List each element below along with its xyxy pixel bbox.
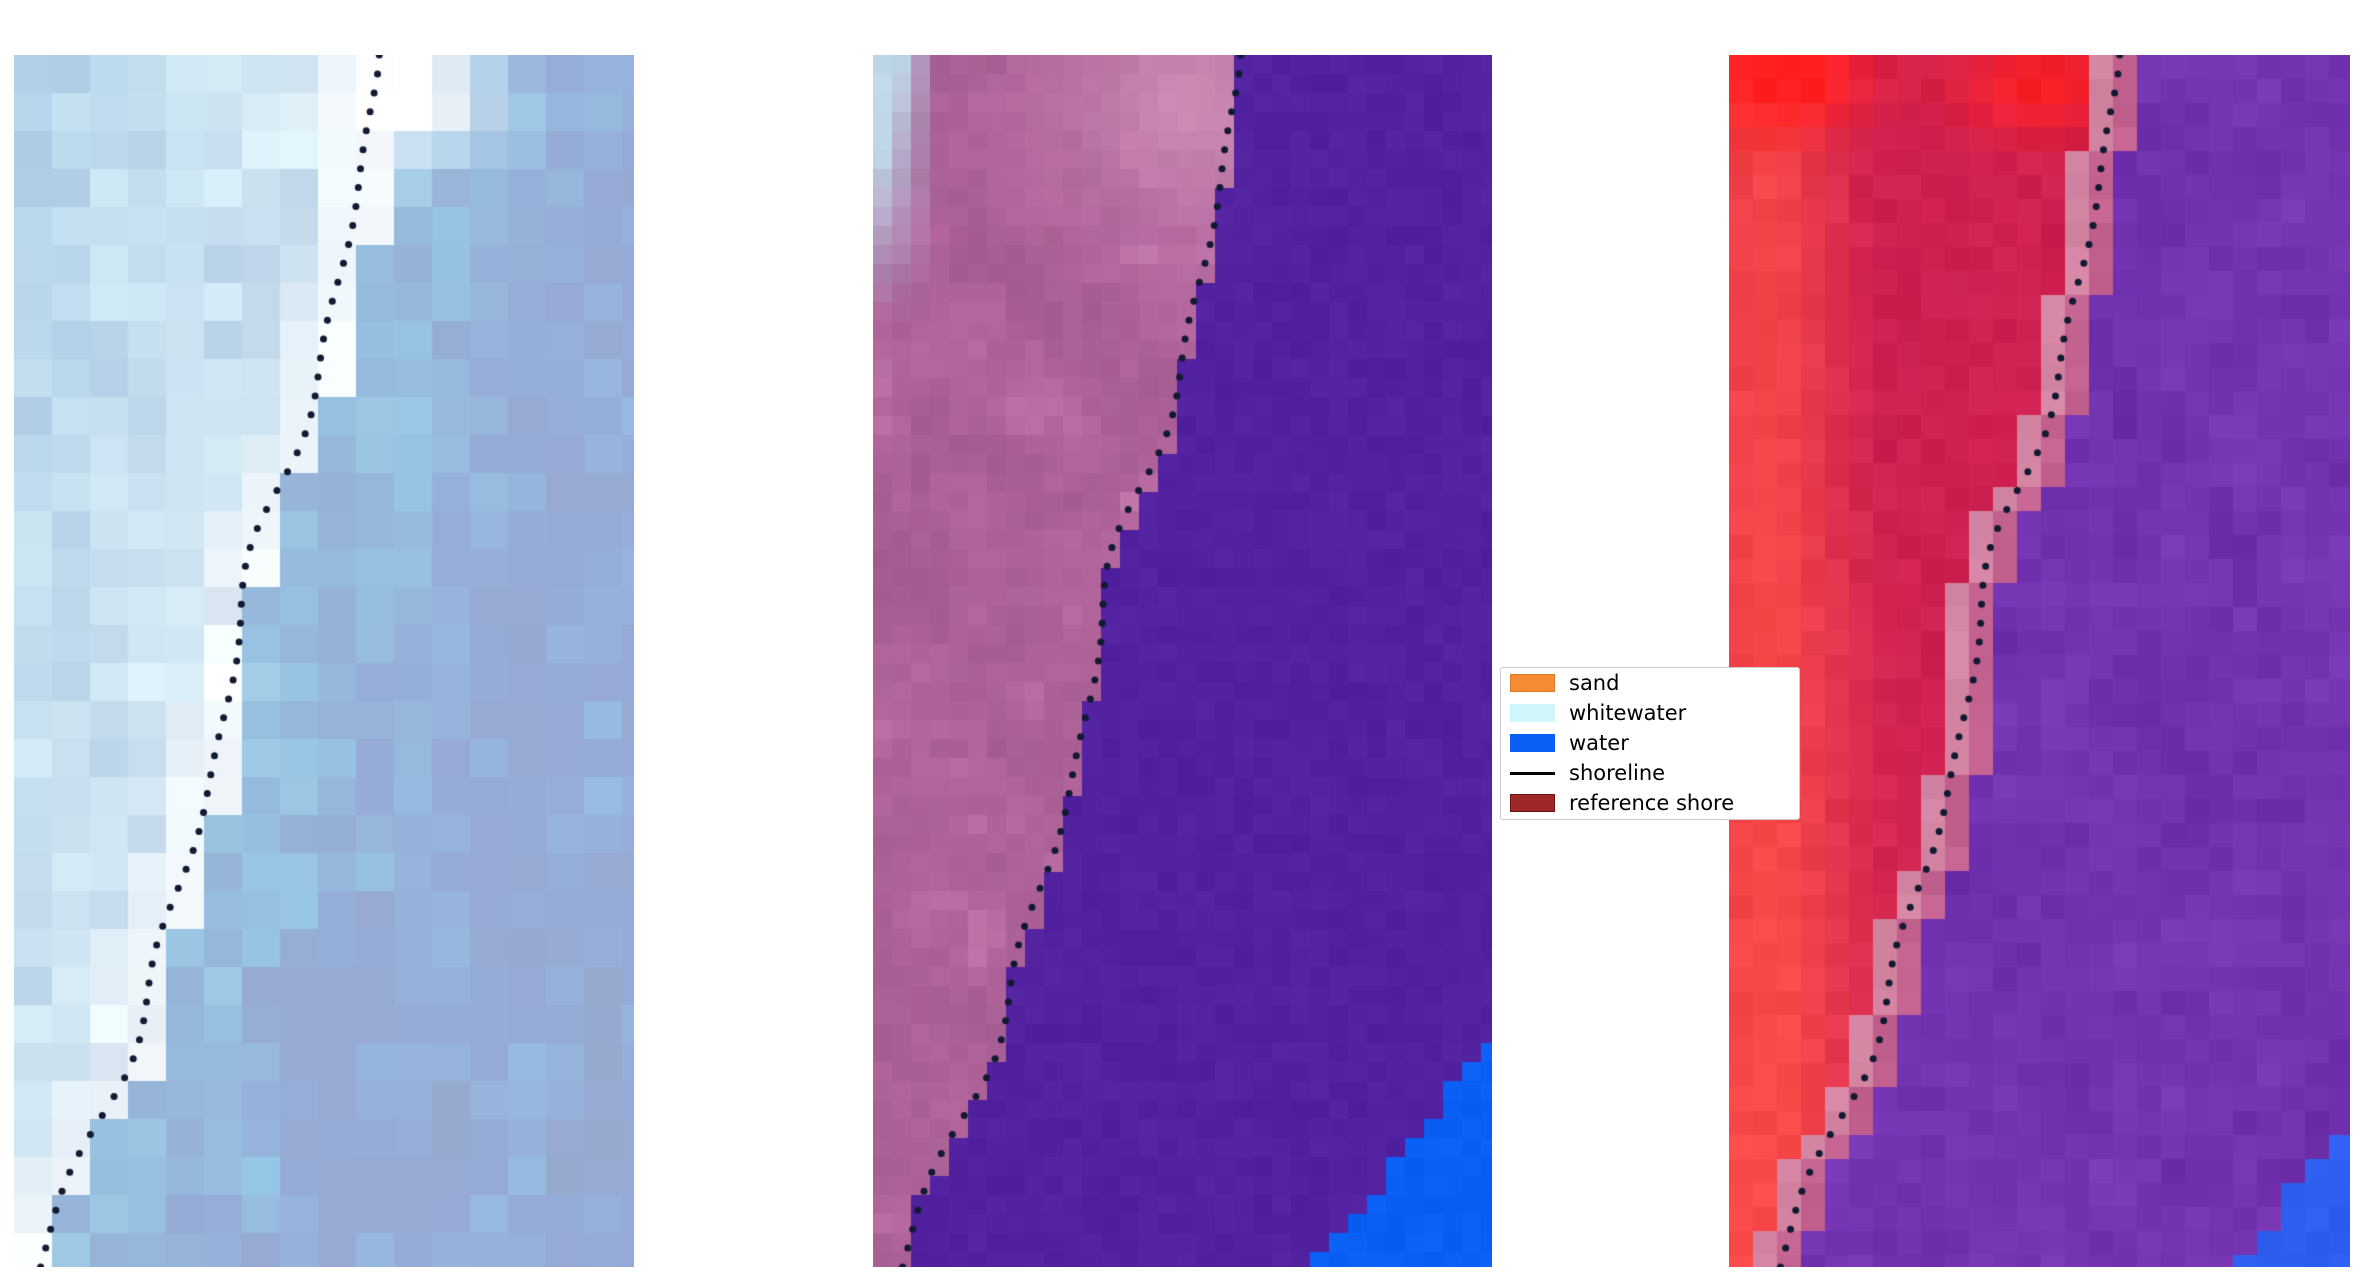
sar-image-canvas	[14, 55, 634, 1267]
figure-root: sar0177 2000-08-30-09-57-26 L7 sand whit…	[0, 0, 2361, 1283]
legend-label-shoreline: shoreline	[1569, 761, 1665, 785]
legend-label-sand: sand	[1569, 671, 1619, 695]
legend-label-reference-shore: reference shore	[1569, 791, 1734, 815]
shoreline-line-icon	[1510, 772, 1555, 775]
legend-item-sand: sand	[1501, 668, 1799, 698]
legend-item-whitewater: whitewater	[1501, 698, 1799, 728]
legend-label-whitewater: whitewater	[1569, 701, 1686, 725]
classified-image-canvas	[873, 55, 1492, 1267]
legend-label-water: water	[1569, 731, 1629, 755]
panel-sar0177: sar0177	[14, 55, 634, 1267]
legend-item-reference-shore: reference shore	[1501, 788, 1799, 818]
reference-shore-swatch-icon	[1510, 794, 1555, 812]
legend-item-water: water	[1501, 728, 1799, 758]
whitewater-swatch-icon	[1510, 704, 1555, 722]
panel-l7: L7	[1729, 55, 2350, 1267]
water-swatch-icon	[1510, 734, 1555, 752]
legend-item-shoreline: shoreline	[1501, 758, 1799, 788]
l7-image-canvas	[1729, 55, 2350, 1267]
sand-swatch-icon	[1510, 674, 1555, 692]
legend-box: sand whitewater water shoreline referenc…	[1500, 667, 1800, 820]
panel-classified: 2000-08-30-09-57-26	[873, 55, 1492, 1267]
